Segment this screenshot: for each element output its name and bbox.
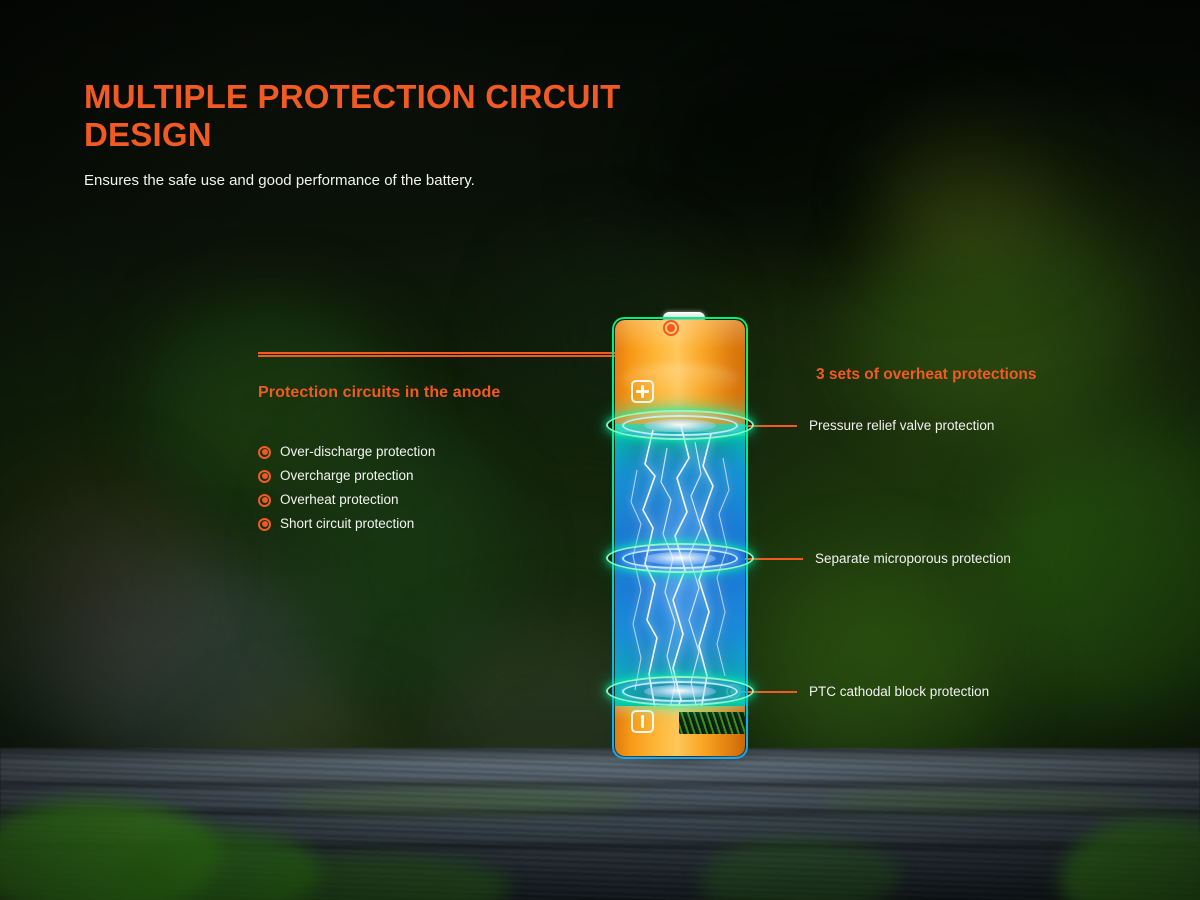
radio-dot-icon <box>258 446 271 459</box>
callout-label: PTC cathodal block protection <box>809 684 989 699</box>
radio-dot-icon <box>258 470 271 483</box>
separator-ring-microporous <box>606 541 754 575</box>
battery-illustration <box>598 300 768 780</box>
list-item: Over-discharge protection <box>258 440 435 464</box>
left-panel-heading: Protection circuits in the anode <box>258 384 500 402</box>
list-item-label: Overheat protection <box>280 493 399 507</box>
right-panel-heading: 3 sets of overheat protections <box>816 366 1037 384</box>
callout-label: Pressure relief valve protection <box>809 418 994 433</box>
callout-separate-microporous: Separate microporous protection <box>726 551 1011 566</box>
anode-connector-dot <box>663 320 679 336</box>
protection-list: Over-discharge protection Overcharge pro… <box>258 440 435 536</box>
list-item-label: Short circuit protection <box>280 517 414 531</box>
page-title: MULTIPLE PROTECTION CIRCUIT DESIGN <box>84 78 724 155</box>
page-subtitle: Ensures the safe use and good performanc… <box>84 170 704 191</box>
list-item: Overcharge protection <box>258 464 435 488</box>
separator-ring-pressure-valve <box>606 408 754 442</box>
infographic-canvas: MULTIPLE PROTECTION CIRCUIT DESIGN Ensur… <box>0 0 1200 900</box>
radio-dot-icon <box>258 494 271 507</box>
separator-ring-ptc-block <box>606 674 754 708</box>
list-item: Short circuit protection <box>258 512 435 536</box>
list-item-label: Over-discharge protection <box>280 445 435 459</box>
callout-label: Separate microporous protection <box>815 551 1011 566</box>
list-item: Overheat protection <box>258 488 435 512</box>
radio-dot-icon <box>258 518 271 531</box>
list-item-label: Overcharge protection <box>280 469 414 483</box>
